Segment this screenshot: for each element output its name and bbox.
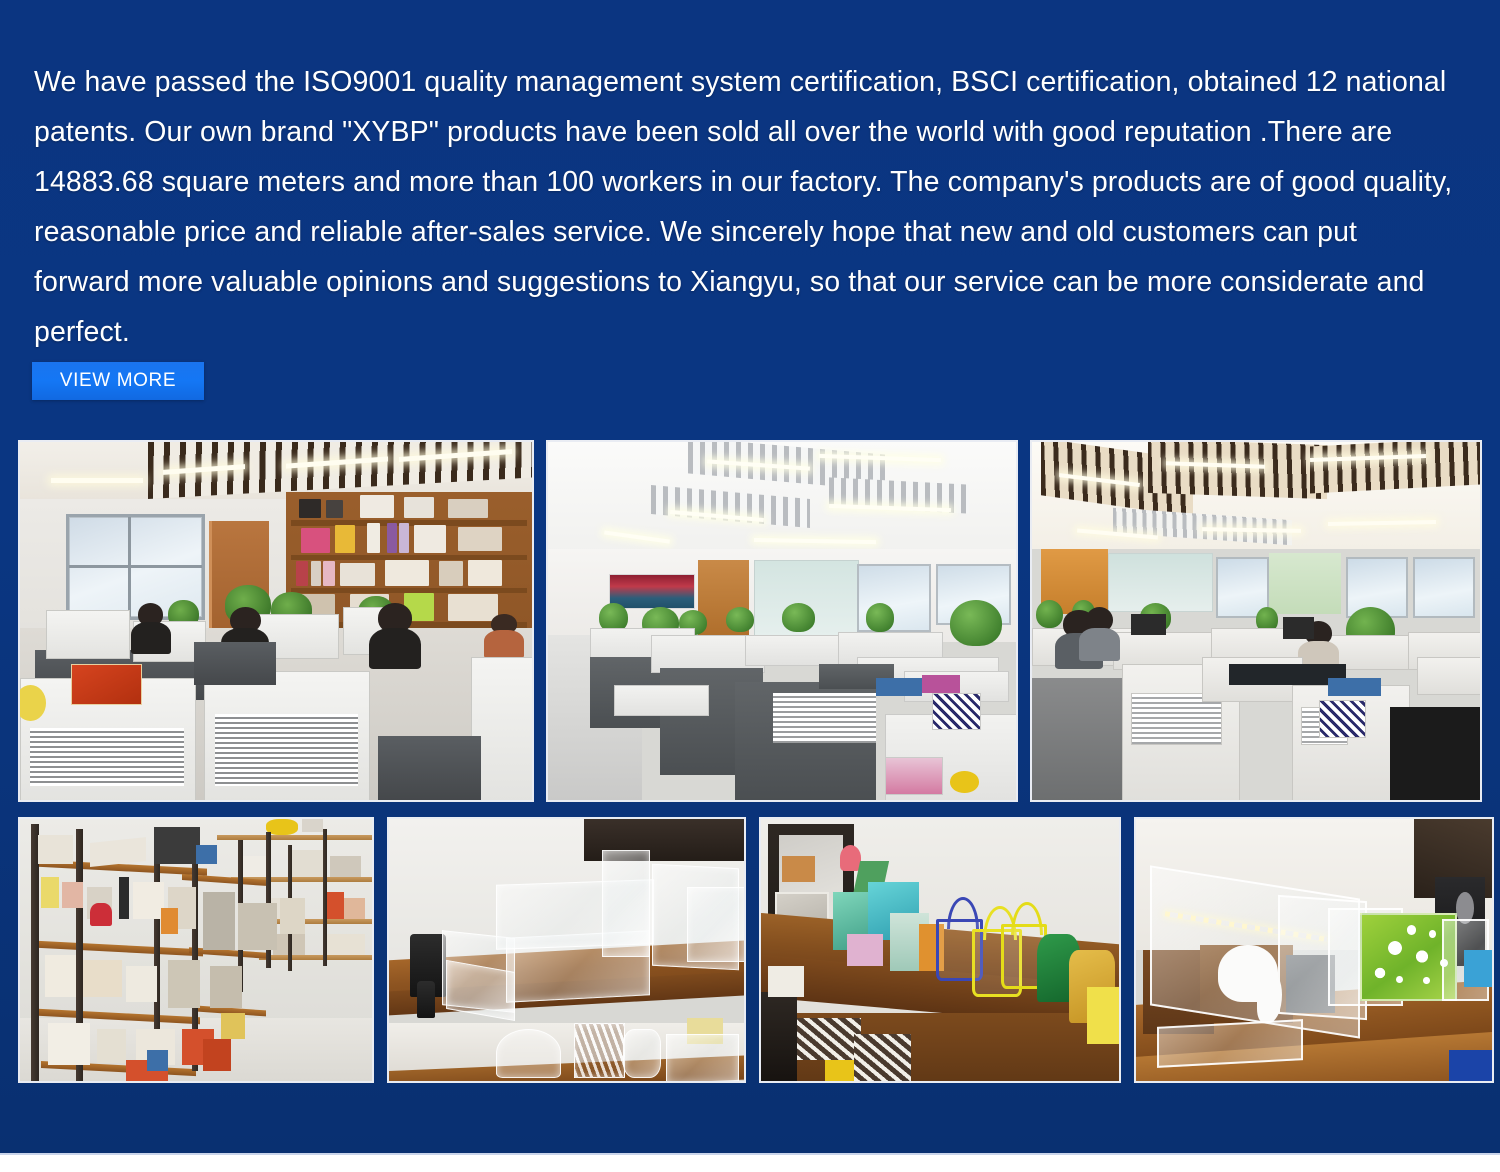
gallery-image-acrylic-panels-elephant-floral[interactable]: [1134, 817, 1494, 1083]
colored-acrylic-bags-scene: [761, 819, 1119, 1081]
page-bottom-strip: [0, 1153, 1500, 1172]
company-profile-banner: We have passed the ISO9001 quality manag…: [0, 0, 1500, 1153]
acrylic-panels-scene: [1136, 819, 1492, 1081]
gallery-top-row: [18, 440, 1482, 802]
acrylic-display-stands-scene: [389, 819, 744, 1081]
gallery-image-office-cubicles-wood-ceiling[interactable]: [1030, 440, 1482, 802]
gallery-image-colored-acrylic-bags[interactable]: [759, 817, 1121, 1083]
view-more-button[interactable]: VIEW MORE: [32, 362, 204, 400]
office-cubicles-scene: [1032, 442, 1480, 800]
gallery-image-office-staff-workstations[interactable]: [18, 440, 534, 802]
company-intro-paragraph: We have passed the ISO9001 quality manag…: [34, 57, 1454, 357]
office-open-plan-scene: [548, 442, 1016, 800]
gallery-image-office-open-plan-empty[interactable]: [546, 440, 1018, 802]
gallery-bottom-row: [18, 817, 1482, 1083]
showroom-shelving-scene: [20, 819, 372, 1081]
office-staff-scene: [20, 442, 532, 800]
gallery-image-clear-acrylic-display-stands[interactable]: [387, 817, 746, 1083]
gallery-image-showroom-sample-shelving[interactable]: [18, 817, 374, 1083]
